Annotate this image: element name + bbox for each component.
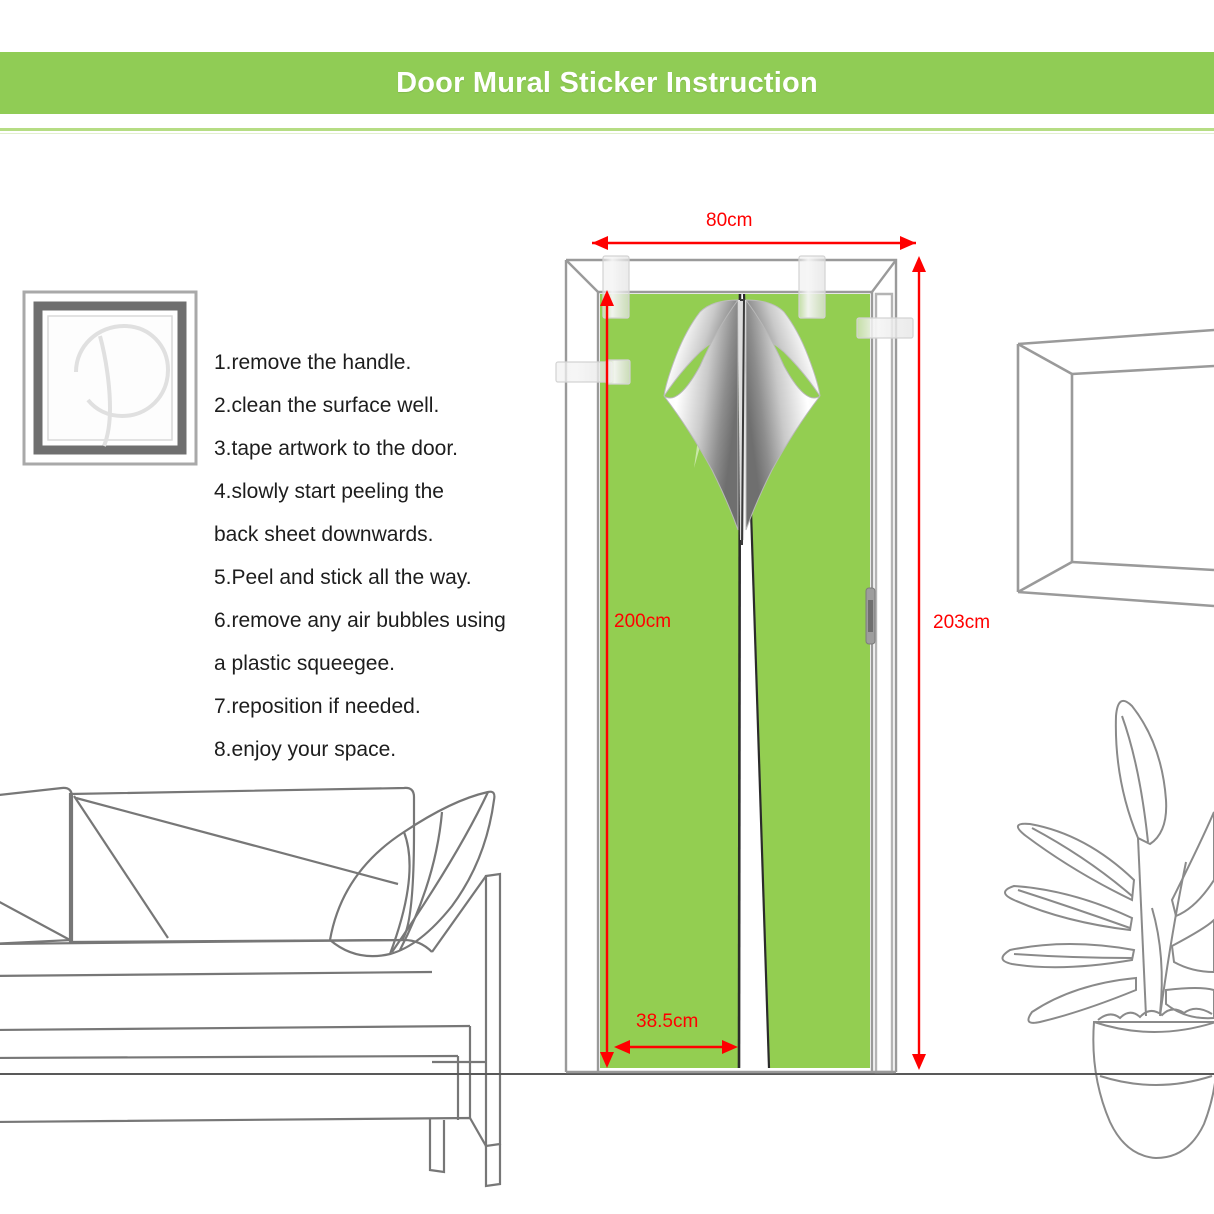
tape-strips <box>556 256 913 384</box>
instruction-line: 7.reposition if needed. <box>214 685 544 728</box>
potted-plant-icon <box>1002 701 1214 1158</box>
peeling-backing-sheet-icon <box>664 300 820 545</box>
instruction-list: 1.remove the handle. 2.clean the surface… <box>214 341 544 771</box>
room-line-art <box>0 0 1214 1214</box>
sticker-panels <box>600 294 870 1068</box>
header-divider <box>0 128 1214 131</box>
window-frame-icon <box>1018 330 1214 606</box>
door-frame-outline <box>566 260 896 1072</box>
instruction-line: 4.slowly start peeling the <box>214 470 544 513</box>
header-divider-thin <box>0 133 1214 134</box>
tape-strip <box>603 256 629 318</box>
picture-frame-icon <box>24 292 196 464</box>
dimension-label-height-left: 200cm <box>614 611 671 633</box>
instruction-line: a plastic squeegee. <box>214 642 544 685</box>
door-diagram <box>0 0 1214 1214</box>
sticker-panel-left <box>600 294 740 1068</box>
tape-strip <box>606 360 630 384</box>
floor-line <box>0 1073 1214 1075</box>
dimension-label-height-right: 203cm <box>933 612 990 634</box>
sticker-panel-right <box>744 294 870 1068</box>
instruction-line: back sheet downwards. <box>214 513 544 556</box>
tape-strip <box>799 256 825 318</box>
page-title: Door Mural Sticker Instruction <box>396 67 818 100</box>
sofa-icon <box>0 788 500 1186</box>
tape-strip <box>857 318 913 338</box>
instruction-line: 6.remove any air bubbles using <box>214 599 544 642</box>
dimension-label-width-bottom: 38.5cm <box>636 1011 698 1033</box>
instruction-line: 3.tape artwork to the door. <box>214 427 544 470</box>
header-banner: Door Mural Sticker Instruction <box>0 52 1214 114</box>
dimension-lines <box>592 236 926 1070</box>
tape-strip <box>556 362 612 382</box>
dimension-label-width-top: 80cm <box>706 210 752 232</box>
instruction-line: 8.enjoy your space. <box>214 728 544 771</box>
instruction-line: 5.Peel and stick all the way. <box>214 556 544 599</box>
instruction-line: 2.clean the surface well. <box>214 384 544 427</box>
door-handle-icon <box>866 588 875 644</box>
instruction-sheet: Door Mural Sticker Instruction <box>0 0 1214 1214</box>
instruction-line: 1.remove the handle. <box>214 341 544 384</box>
